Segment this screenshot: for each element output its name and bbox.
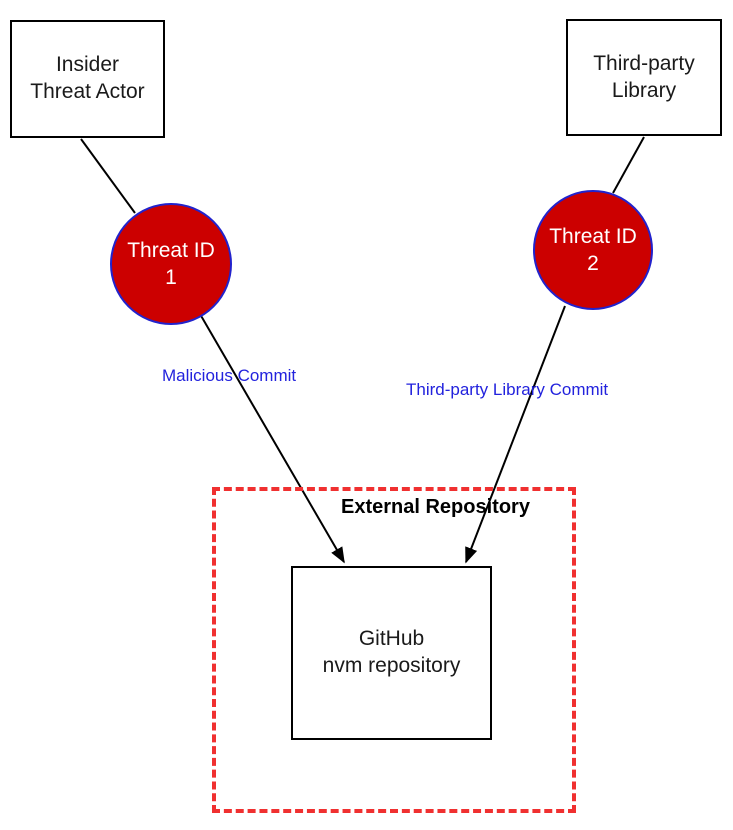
node-insider-threat-actor-label: Insider Threat Actor [30, 52, 144, 106]
node-github-nvm-repository[interactable]: GitHub nvm repository [291, 566, 492, 740]
edge-label-malicious-commit: Malicious Commit [162, 366, 296, 386]
node-github-nvm-repository-label: GitHub nvm repository [323, 626, 461, 680]
node-threat-id-2[interactable]: Threat ID 2 [533, 190, 653, 310]
node-threat-id-2-label: Threat ID 2 [549, 223, 637, 278]
node-third-party-library-label: Third-party Library [593, 51, 695, 105]
node-threat-id-1[interactable]: Threat ID 1 [110, 203, 232, 325]
edge-library-to-threat2 [613, 137, 644, 193]
diagram-canvas: External Repository Insider Threat Actor… [0, 0, 733, 830]
node-insider-threat-actor[interactable]: Insider Threat Actor [10, 20, 165, 138]
edge-label-third-party-library-commit: Third-party Library Commit [406, 380, 608, 400]
node-third-party-library[interactable]: Third-party Library [566, 19, 722, 136]
node-threat-id-1-label: Threat ID 1 [127, 237, 215, 292]
zone-external-repository-label: External Repository [341, 496, 530, 519]
edge-insider-to-threat1 [81, 139, 135, 213]
